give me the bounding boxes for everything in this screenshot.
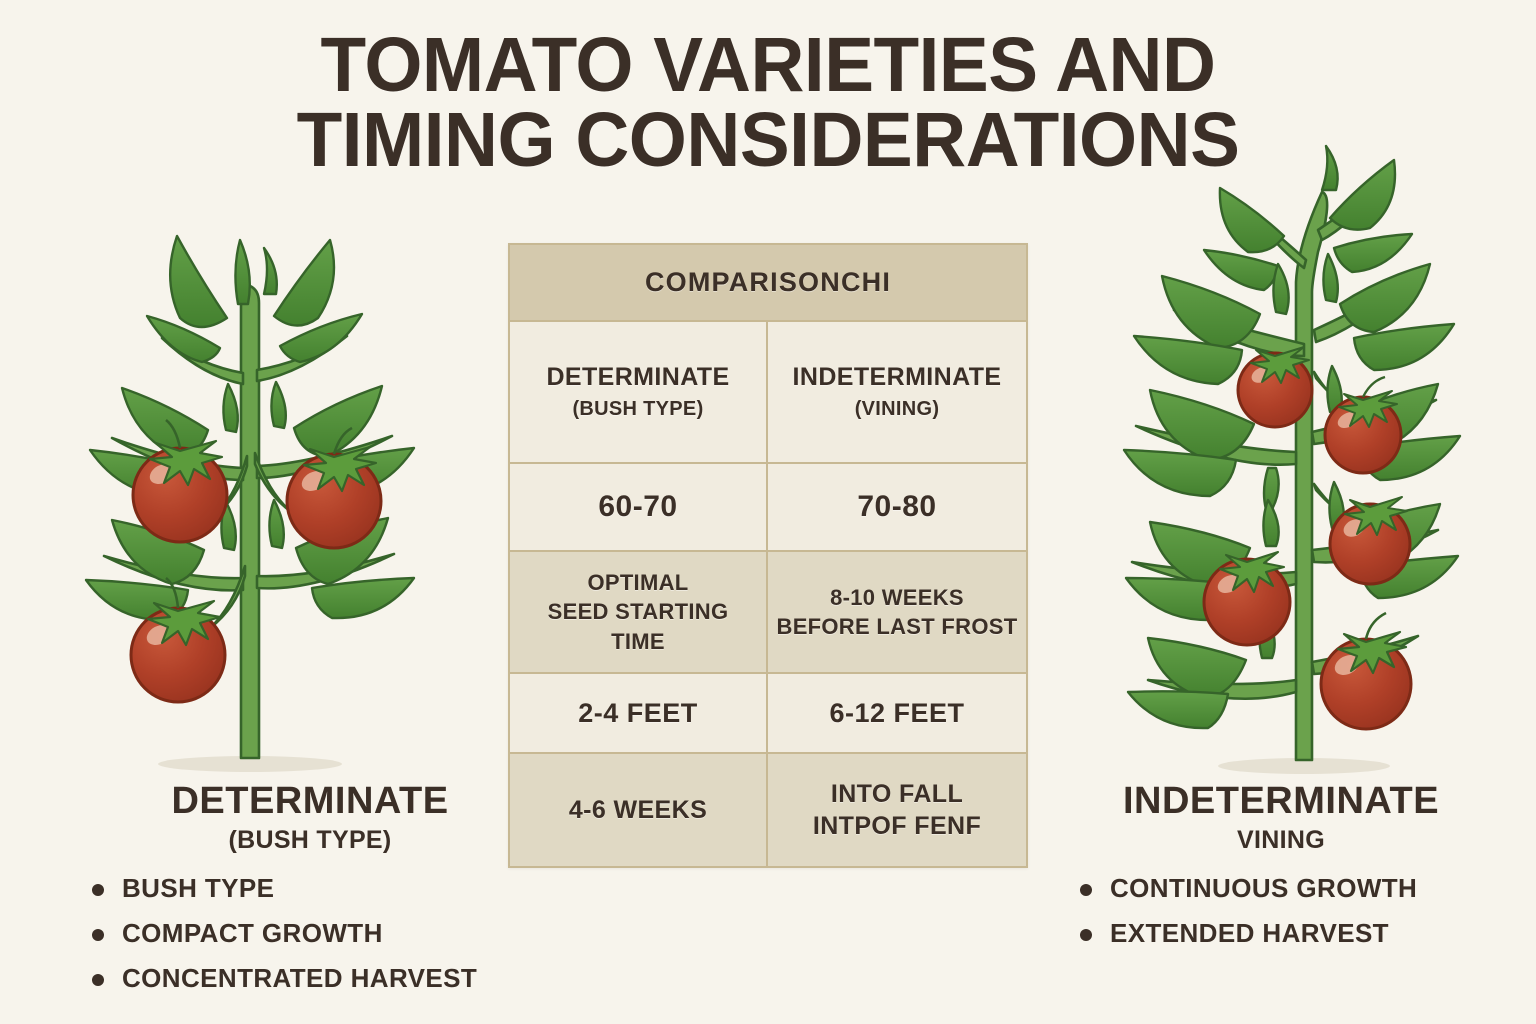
cell-main-text: DETERMINATE <box>546 363 729 392</box>
list-item: EXTENDED HARVEST <box>1066 918 1516 949</box>
cell-main-text: 70-80 <box>857 490 936 524</box>
cell-main-text: 60-70 <box>598 490 677 524</box>
table-cell-days-determinate: 60-70 <box>510 464 768 550</box>
cell-main-text: 6-12 FEET <box>829 698 964 729</box>
table-row: DETERMINATE (BUSH TYPE) INDETERMINATE (V… <box>510 322 1026 464</box>
indeterminate-caption-sub: VINING <box>1046 826 1516 855</box>
cell-main-text: 8-10 WEEKSBEFORE LAST FROST <box>777 583 1018 641</box>
indeterminate-panel: INDETERMINATE VINING CONTINUOUS GROWTH E… <box>1046 782 1516 963</box>
table-header: COMPARISONCHI <box>510 245 1026 322</box>
cell-main-text: INTO FALLINTPOF FENF <box>813 778 981 843</box>
infographic-canvas: TOMATO VARIETIES AND TIMING CONSIDERATIO… <box>0 0 1536 1024</box>
determinate-bullet-list: BUSH TYPE COMPACT GROWTH CONCENTRATED HA… <box>78 873 560 994</box>
table-cell-harvest-indeterminate: INTO FALLINTPOF FENF <box>768 754 1026 866</box>
list-item: CONTINUOUS GROWTH <box>1066 873 1516 904</box>
table-cell-days-indeterminate: 70-80 <box>768 464 1026 550</box>
table-row: 2-4 FEET 6-12 FEET <box>510 674 1026 754</box>
table-cell-height-determinate: 2-4 FEET <box>510 674 768 752</box>
comparison-table: COMPARISONCHI DETERMINATE (BUSH TYPE) IN… <box>508 243 1028 868</box>
table-row: 60-70 70-80 <box>510 464 1026 552</box>
indeterminate-plant-illustration <box>1082 132 1498 780</box>
table-header-label: COMPARISONCHI <box>645 267 891 298</box>
table-row: OPTIMALSEED STARTINGTIME 8-10 WEEKSBEFOR… <box>510 552 1026 674</box>
cell-main-text: 2-4 FEET <box>578 698 698 729</box>
cell-sub-text: (BUSH TYPE) <box>572 398 703 421</box>
indeterminate-bullet-list: CONTINUOUS GROWTH EXTENDED HARVEST <box>1066 873 1516 949</box>
list-item: COMPACT GROWTH <box>78 918 560 949</box>
table-cell-indeterminate-header: INDETERMINATE (VINING) <box>768 322 1026 462</box>
determinate-panel: DETERMINATE (BUSH TYPE) BUSH TYPE COMPAC… <box>60 782 560 1008</box>
list-item: BUSH TYPE <box>78 873 560 904</box>
determinate-caption-main: DETERMINATE <box>60 782 560 822</box>
cell-sub-text: (VINING) <box>855 398 940 421</box>
indeterminate-caption-main: INDETERMINATE <box>1046 782 1516 822</box>
table-cell-seed-determinate: OPTIMALSEED STARTINGTIME <box>510 552 768 672</box>
table-cell-seed-indeterminate: 8-10 WEEKSBEFORE LAST FROST <box>768 552 1026 672</box>
table-row: 4-6 WEEKS INTO FALLINTPOF FENF <box>510 754 1026 866</box>
table-cell-determinate-header: DETERMINATE (BUSH TYPE) <box>510 322 768 462</box>
list-item: CONCENTRATED HARVEST <box>78 963 560 994</box>
page-title-line1: TOMATO VARIETIES AND <box>23 28 1513 103</box>
cell-main-text: INDETERMINATE <box>793 363 1002 392</box>
cell-main-text: OPTIMALSEED STARTINGTIME <box>548 568 729 655</box>
tomato-fruit <box>1321 613 1411 729</box>
table-cell-height-indeterminate: 6-12 FEET <box>768 674 1026 752</box>
determinate-plant-illustration <box>42 198 458 778</box>
tomato-fruit <box>1238 347 1312 427</box>
cell-main-text: 4-6 WEEKS <box>569 794 707 827</box>
determinate-caption-sub: (BUSH TYPE) <box>60 826 560 855</box>
